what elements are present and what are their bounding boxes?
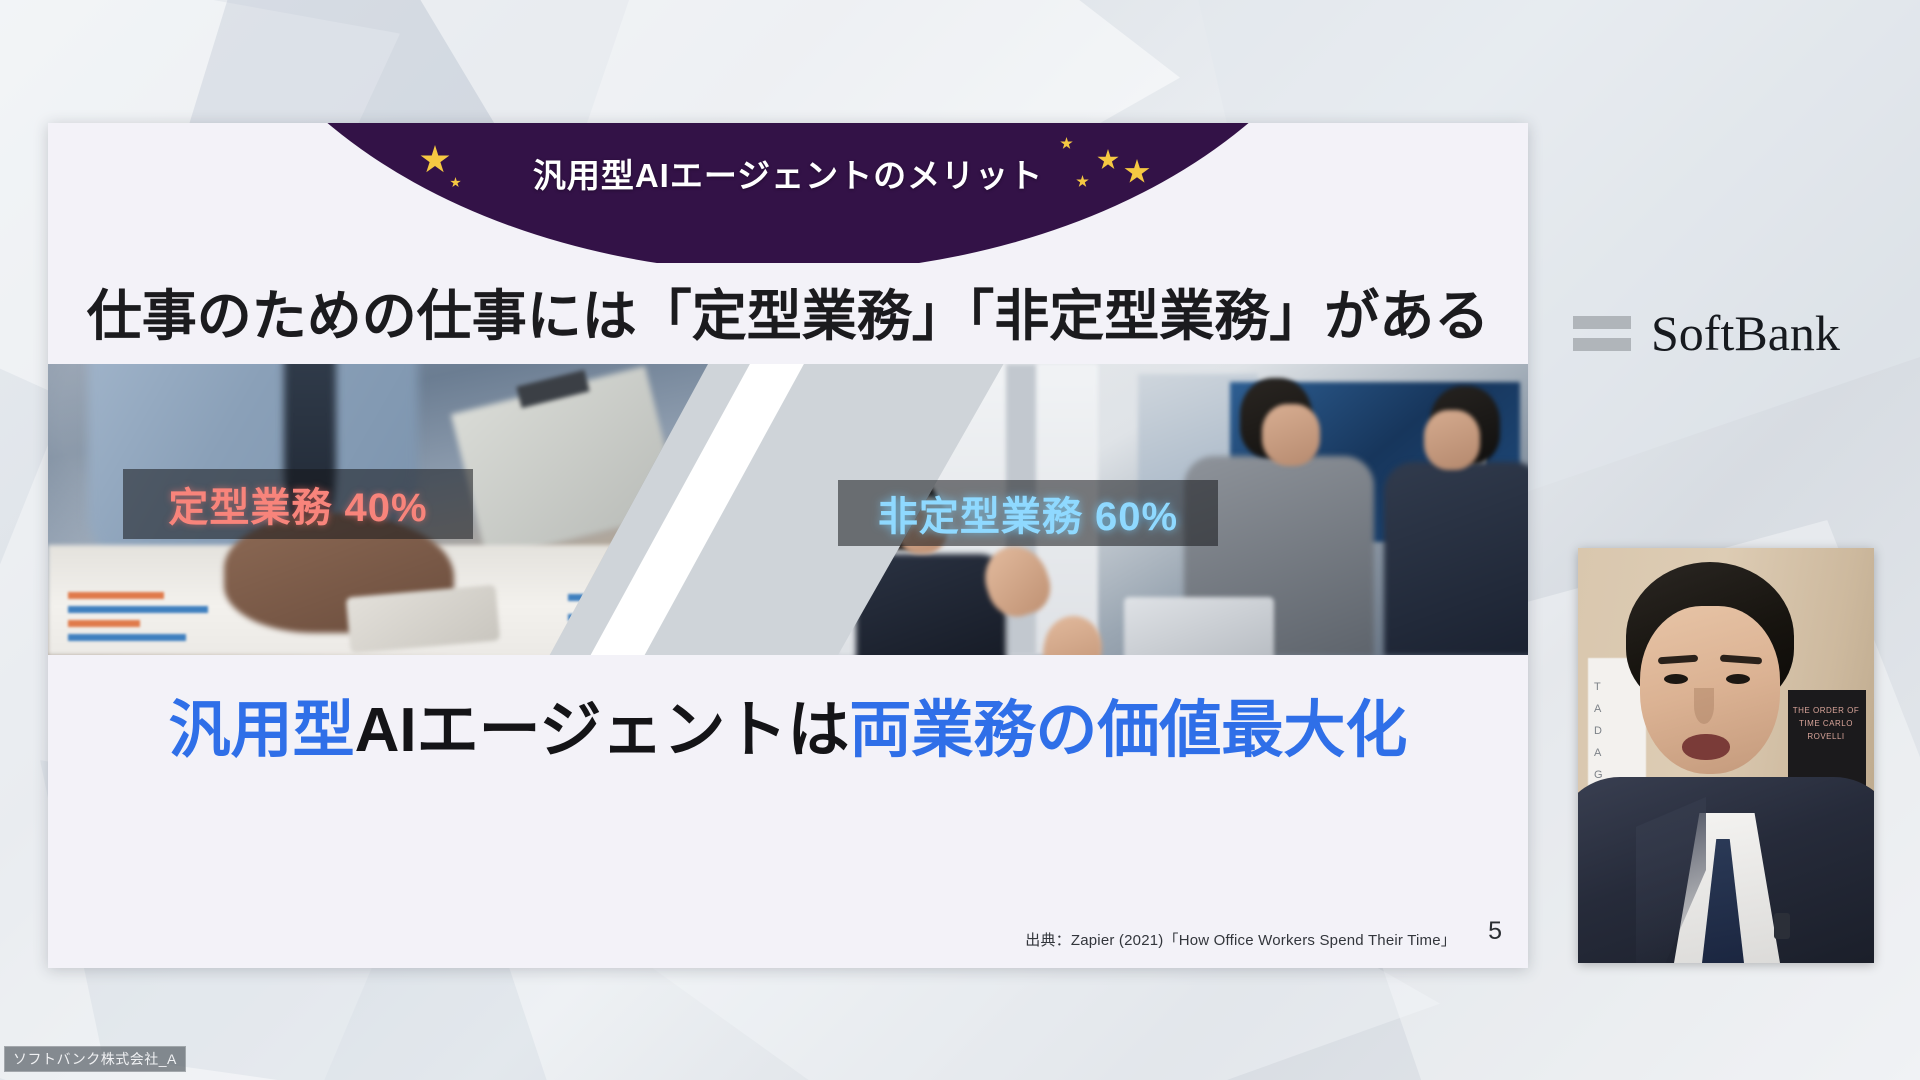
- photo-detail: [68, 606, 208, 613]
- speaker-eye: [1664, 674, 1688, 684]
- bottom-message-part3: 両業務の価値最大化: [849, 696, 1407, 765]
- photo-detail: [1424, 410, 1480, 470]
- background-poster-text: TADAG: [1594, 676, 1638, 786]
- non-routine-work-caption: 非定型業務 60%: [838, 480, 1218, 546]
- softbank-logo: SoftBank: [1573, 308, 1840, 358]
- softbank-wordmark: SoftBank: [1651, 308, 1840, 358]
- routine-work-caption: 定型業務 40%: [123, 469, 473, 539]
- speaker-eye: [1726, 674, 1750, 684]
- photo-detail: [1262, 404, 1320, 466]
- lapel-mic-icon: [1774, 913, 1790, 939]
- bottom-message-part2: AIエージェントは: [355, 696, 850, 765]
- source-citation: 出典：Zapier (2021)「How Office Workers Spen…: [1025, 929, 1456, 950]
- presentation-slide[interactable]: 汎用型AIエージェントのメリット 仕事のための仕事には「定型業務」「非定型業務」…: [48, 123, 1528, 968]
- speaker-nose: [1694, 688, 1714, 724]
- watermark-label: ソフトバンク株式会社_A: [4, 1046, 186, 1072]
- photo-detail: [68, 592, 164, 599]
- slide-banner: 汎用型AIエージェントのメリット: [48, 123, 1528, 263]
- slide-bottom-message: 汎用型AIエージェントは両業務の価値最大化: [48, 679, 1528, 769]
- softbank-bar: [1573, 338, 1631, 351]
- photo-detail: [68, 620, 140, 627]
- speaker-mouth: [1682, 734, 1730, 760]
- banner-title: 汎用型AIエージェントのメリット: [48, 149, 1528, 197]
- softbank-bar: [1573, 316, 1631, 329]
- background-book-text: THE ORDER OF TIME CARLO ROVELLI: [1790, 704, 1862, 743]
- photo-band: 定型業務 40% 非定型業務 60%: [48, 364, 1528, 655]
- slide-headline: 仕事のための仕事には「定型業務」「非定型業務」がある: [48, 271, 1528, 351]
- bottom-message-part1: 汎用型: [169, 696, 355, 765]
- photo-detail: [68, 634, 186, 641]
- photo-detail: [1124, 597, 1274, 655]
- page-number: 5: [1488, 917, 1502, 946]
- screen-stage: 汎用型AIエージェントのメリット 仕事のための仕事には「定型業務」「非定型業務」…: [0, 0, 1920, 1080]
- photo-detail: [1384, 462, 1528, 655]
- softbank-bars-icon: [1573, 316, 1631, 351]
- speaker-video-tile[interactable]: TADAG THE ORDER OF TIME CARLO ROVELLI: [1578, 548, 1874, 963]
- photo-detail: [856, 554, 1006, 655]
